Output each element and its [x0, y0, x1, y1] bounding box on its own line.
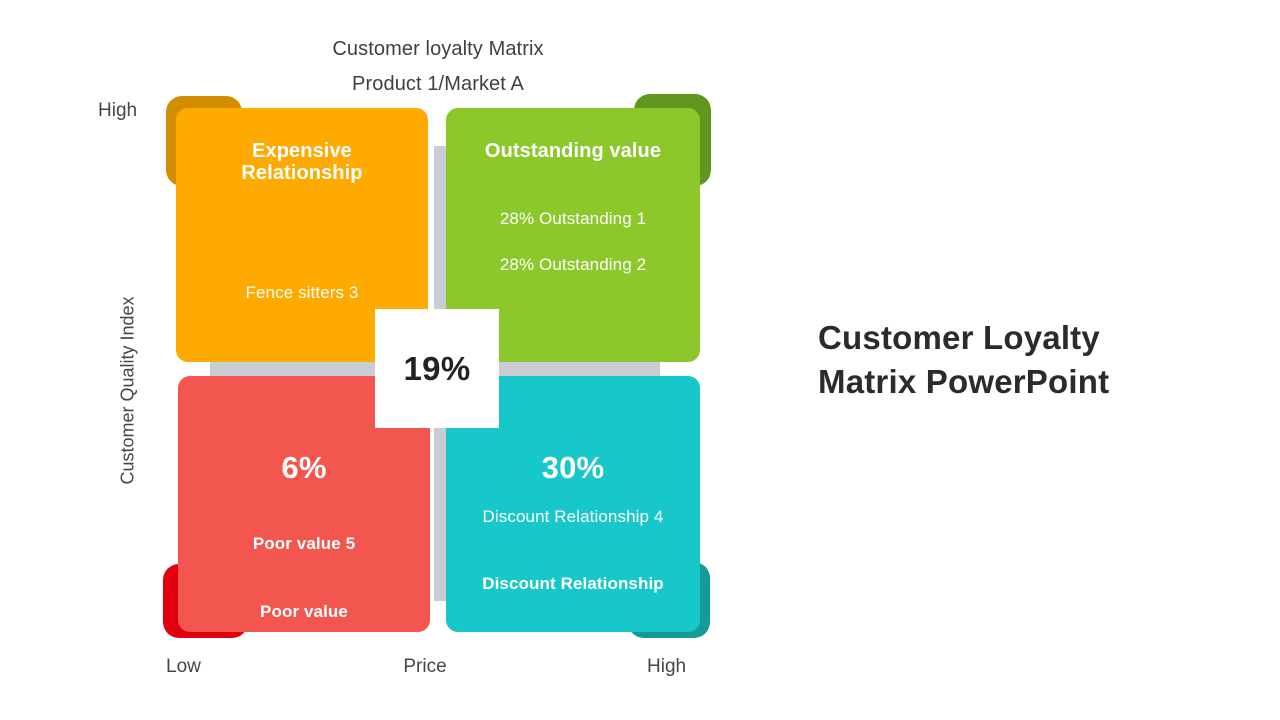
quadrant-top-right-title: Outstanding value	[485, 140, 661, 162]
quadrant-bottom-right-detail-1: Discount Relationship 4	[483, 507, 664, 527]
quadrant-top-left-title-line2: Relationship	[241, 162, 362, 184]
quadrant-bottom-right-detail-2: Discount Relationship	[482, 574, 664, 594]
x-axis-low-label: Low	[166, 656, 201, 678]
y-axis-title: Customer Quality Index	[118, 241, 139, 541]
slide-headline-line2: Matrix PowerPoint	[818, 363, 1109, 400]
quadrant-bottom-right-percent: 30%	[542, 450, 605, 486]
x-axis-title: Price	[330, 656, 520, 678]
quadrant-top-left-detail: Fence sitters 3	[246, 283, 359, 303]
quadrant-bottom-left-percent: 6%	[281, 450, 326, 486]
quadrant-top-right-detail-1: 28% Outstanding 1	[500, 209, 646, 229]
matrix-title: Customer loyalty Matrix	[178, 38, 698, 61]
slide-headline: Customer Loyalty Matrix PowerPoint	[818, 316, 1218, 403]
quadrant-top-left-title: Expensive Relationship	[192, 140, 412, 185]
y-axis-high-label: High	[98, 100, 137, 122]
center-value-badge: 19%	[375, 309, 499, 428]
center-value-text: 19%	[404, 350, 471, 388]
quadrant-bottom-left-detail-2: Poor value	[260, 602, 348, 622]
matrix-subtitle: Product 1/Market A	[178, 73, 698, 96]
slide-canvas: Customer loyalty Matrix Product 1/Market…	[0, 0, 1280, 720]
x-axis-high-label: High	[647, 656, 686, 678]
quadrant-top-left-title-line1: Expensive	[252, 140, 352, 162]
slide-headline-line1: Customer Loyalty	[818, 319, 1100, 356]
quadrant-bottom-left-detail-1: Poor value 5	[253, 534, 355, 554]
quadrant-top-right-detail-2: 28% Outstanding 2	[500, 255, 646, 275]
